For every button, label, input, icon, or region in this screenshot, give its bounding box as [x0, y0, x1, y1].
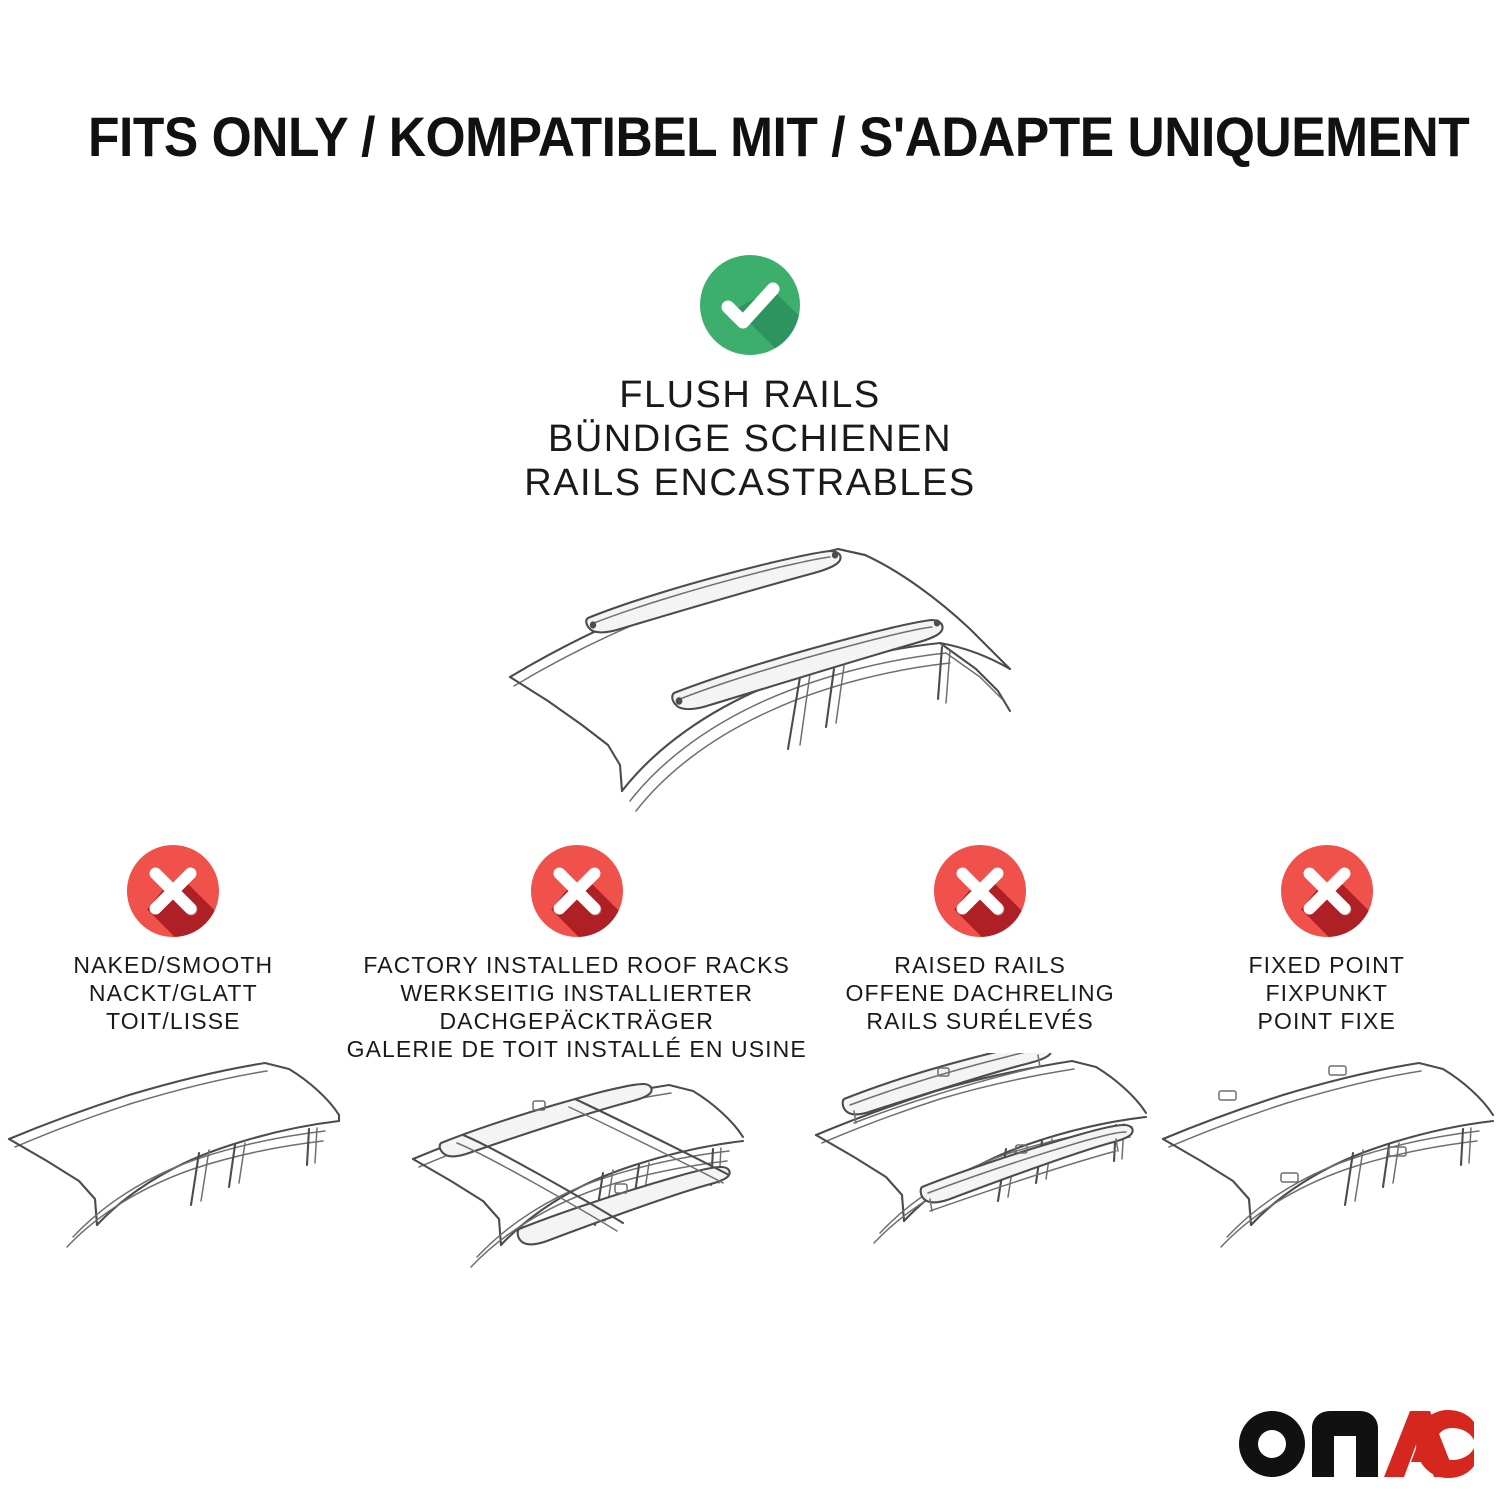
approved-section: FLUSH RAILS BÜNDIGE SCHIENEN RAILS ENCAS… [0, 255, 1500, 819]
incompatible-label-3: RAISED RAILS OFFENE DACHRELING RAILS SUR… [846, 951, 1115, 1035]
x-circle-icon [1281, 845, 1373, 937]
car-roof-fixed-point-illustration [1157, 1053, 1497, 1303]
incompatible-label-4-line-de: FIXPUNKT [1248, 979, 1405, 1007]
fixed-point-covers [1219, 1066, 1406, 1182]
incompatible-label-1: NAKED/SMOOTH NACKT/GLATT TOIT/LISSE [73, 951, 273, 1035]
incompatible-item-factory-roof-racks: FACTORY INSTALLED ROOF RACKS WERKSEITIG … [347, 845, 807, 1331]
reject-icon-wrap-2 [531, 845, 623, 937]
approved-label-line-en: FLUSH RAILS [0, 373, 1500, 417]
incompatible-label-4-line-fr: POINT FIXE [1248, 1007, 1405, 1035]
x-circle-icon [934, 845, 1026, 937]
car-roof-factory-roof-racks-illustration [407, 1081, 747, 1331]
incompatible-label-2-line-en: FACTORY INSTALLED ROOF RACKS [347, 951, 807, 979]
incompatible-label-3-line-en: RAISED RAILS [846, 951, 1115, 979]
reject-icon-wrap-4 [1281, 845, 1373, 937]
incompatible-label-3-line-de: OFFENE DACHRELING [846, 979, 1115, 1007]
car-roof-raised-rails-illustration [810, 1053, 1150, 1303]
approved-label: FLUSH RAILS BÜNDIGE SCHIENEN RAILS ENCAS… [0, 373, 1500, 505]
incompatible-label-4: FIXED POINT FIXPUNKT POINT FIXE [1248, 951, 1405, 1035]
car-roof-with-flush-rails-illustration [0, 519, 1500, 819]
approved-label-line-de: BÜNDIGE SCHIENEN [0, 417, 1500, 461]
incompatible-label-2: FACTORY INSTALLED ROOF RACKS WERKSEITIG … [347, 951, 807, 1063]
approved-icon-wrap [700, 255, 800, 355]
incompatible-label-2-line-de-1: WERKSEITIG INSTALLIERTER [347, 979, 807, 1007]
incompatible-label-4-line-en: FIXED POINT [1248, 951, 1405, 979]
x-circle-icon [127, 845, 219, 937]
incompatible-label-3-line-fr: RAILS SURÉLEVÉS [846, 1007, 1115, 1035]
incompatible-label-1-line-fr: TOIT/LISSE [73, 1007, 273, 1035]
incompatible-label-2-line-de-2: DACHGEPÄCKTRÄGER [347, 1007, 807, 1035]
reject-icon-wrap-1 [127, 845, 219, 937]
incompatible-item-fixed-point: FIXED POINT FIXPUNKT POINT FIXE [1153, 845, 1500, 1303]
incompatible-section: NAKED/SMOOTH NACKT/GLATT TOIT/LISSE [0, 845, 1500, 1331]
incompatible-label-2-line-fr: GALERIE DE TOIT INSTALLÉ EN USINE [347, 1035, 807, 1063]
incompatible-label-1-line-en: NAKED/SMOOTH [73, 951, 273, 979]
approved-label-line-fr: RAILS ENCASTRABLES [0, 461, 1500, 505]
reject-icon-wrap-3 [934, 845, 1026, 937]
x-circle-icon [531, 845, 623, 937]
check-circle-icon [700, 255, 800, 355]
incompatible-item-raised-rails: RAISED RAILS OFFENE DACHRELING RAILS SUR… [807, 845, 1154, 1303]
incompatible-label-1-line-de: NACKT/GLATT [73, 979, 273, 1007]
car-roof-naked-smooth-illustration [3, 1053, 343, 1303]
page-title: FITS ONLY / KOMPATIBEL MIT / S'ADAPTE UN… [88, 108, 1469, 166]
omac-logo [1238, 1410, 1474, 1478]
incompatible-item-naked-smooth: NAKED/SMOOTH NACKT/GLATT TOIT/LISSE [0, 845, 347, 1303]
